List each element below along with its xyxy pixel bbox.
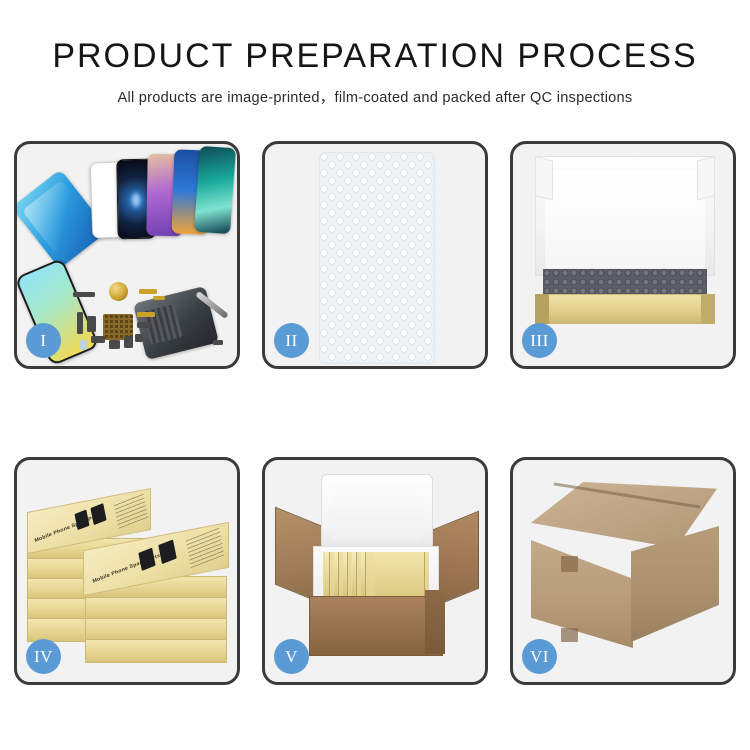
panel-bubble-wrap: II (262, 141, 488, 369)
page-subtitle: All products are image-printed，film-coat… (0, 86, 750, 107)
carton-front-face (531, 540, 633, 648)
bubble-texture (320, 153, 434, 363)
retail-box-edge (334, 552, 339, 596)
product-preparation-infographic: PRODUCT PREPARATION PROCESS All products… (0, 0, 750, 750)
retail-box-stack: Mobile Phone Spare Parts Mobile Phone Sp… (25, 476, 231, 668)
tape-patch (561, 628, 578, 642)
spare-part (137, 312, 155, 317)
box-thumbnail (90, 503, 106, 525)
carton-side-face (631, 526, 719, 642)
box-edge-left (535, 294, 549, 324)
box-tab-left (535, 156, 553, 200)
retail-box (85, 618, 227, 640)
gold-coil-part (109, 282, 128, 301)
retail-box (85, 639, 227, 663)
page-title: PRODUCT PREPARATION PROCESS (0, 38, 750, 75)
box-front-panel (535, 294, 715, 324)
foam-insert (543, 269, 707, 297)
box-edge-right (701, 294, 715, 324)
process-step-grid: I II (14, 141, 736, 697)
panel-carton-packing: V (262, 457, 488, 685)
teal-phone-graphic (194, 146, 236, 234)
spare-part (109, 340, 120, 349)
step-badge: II (274, 323, 309, 358)
header: PRODUCT PREPARATION PROCESS All products… (0, 38, 750, 107)
box-tab-right (697, 156, 715, 200)
retail-box-edge (375, 552, 425, 596)
spare-part (91, 336, 105, 343)
tape-patch (561, 556, 578, 572)
spare-part (73, 292, 95, 297)
carton-front-panel (309, 596, 443, 656)
retail-box-edge (352, 552, 357, 596)
step-badge: VI (522, 639, 557, 674)
step-badge: V (274, 639, 309, 674)
box-spec-lines (114, 493, 148, 529)
box-lid-inner (545, 170, 705, 268)
spare-part (139, 289, 157, 294)
step-badge: III (522, 323, 557, 358)
step-badge: I (26, 323, 61, 358)
spare-part (135, 334, 143, 342)
packed-retail-boxes (323, 552, 429, 596)
retail-box (85, 597, 227, 619)
panel-inner-box: III (510, 141, 736, 369)
spare-part (213, 340, 223, 345)
step-badge: IV (26, 639, 61, 674)
spare-part (153, 296, 165, 300)
box-thumbnail (74, 510, 89, 531)
retail-box-edge (343, 552, 348, 596)
foam-lid-inner (331, 484, 423, 540)
spare-part (137, 322, 151, 328)
panel-sealed-carton: VI (510, 457, 736, 685)
box-thumbnail (158, 539, 177, 564)
panel-product-parts: I (14, 141, 240, 369)
box-thumbnail (138, 548, 155, 571)
spare-part (77, 312, 83, 334)
spare-part (87, 316, 96, 332)
spare-part (80, 340, 87, 350)
bubble-wrap-bag (319, 152, 435, 364)
retail-box-edge (361, 552, 366, 596)
box-spec-lines (185, 527, 224, 568)
panel-box-stack: Mobile Phone Spare Parts Mobile Phone Sp… (14, 457, 240, 685)
retail-box-edge (325, 552, 330, 596)
spare-part (124, 336, 133, 348)
carton-side-panel (425, 590, 445, 654)
